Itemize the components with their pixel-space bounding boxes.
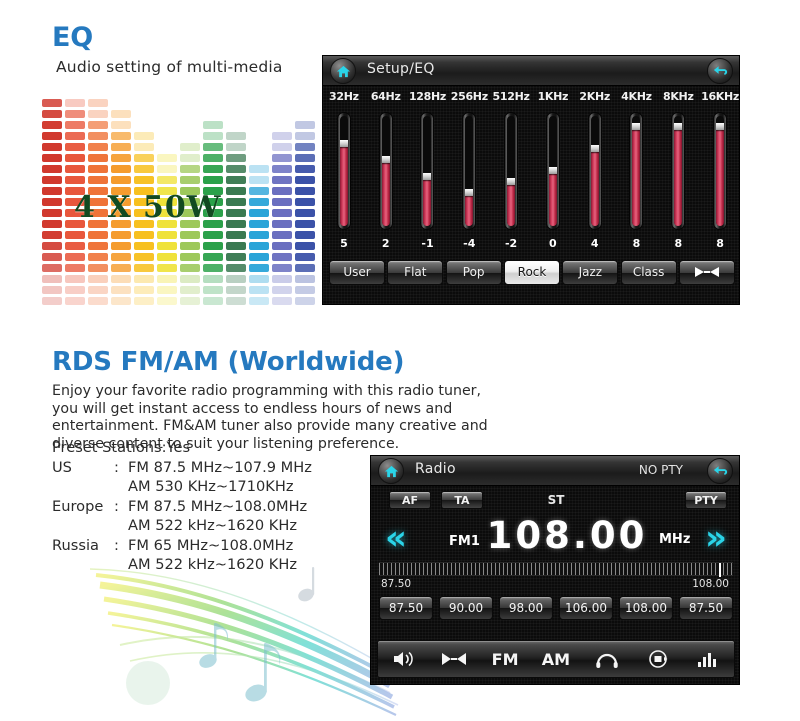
rds-control-row: AF TA ST PTY bbox=[371, 487, 740, 513]
eq-band-label: 2KHz bbox=[574, 87, 616, 107]
eq-art-block bbox=[180, 286, 200, 294]
music-swirl-decoration bbox=[60, 565, 410, 721]
stereo-mono-icon[interactable] bbox=[432, 645, 476, 673]
eq-art-block bbox=[42, 275, 62, 283]
eq-art-block bbox=[180, 143, 200, 151]
eq-art-block bbox=[65, 121, 85, 129]
eq-art-block bbox=[88, 99, 108, 107]
spec-row-fm: US:FM 87.5 MHz~107.9 MHz bbox=[52, 458, 312, 478]
preset-buttons-row[interactable]: 87.5090.0098.00106.00108.0087.50 bbox=[371, 596, 740, 624]
eq-art-block bbox=[134, 143, 154, 151]
eq-art-block bbox=[203, 143, 223, 151]
eq-art-block bbox=[295, 165, 315, 173]
eq-slider-fill bbox=[465, 193, 473, 226]
eq-slider[interactable] bbox=[657, 108, 699, 233]
eq-art-block bbox=[295, 220, 315, 228]
eq-section-subtitle: Audio setting of multi-media bbox=[56, 58, 283, 76]
eq-slider-track[interactable] bbox=[713, 112, 727, 230]
eq-art-block bbox=[111, 121, 131, 129]
rewind-icon[interactable]: « bbox=[385, 520, 407, 556]
eq-art-column bbox=[42, 96, 62, 308]
spec-row-fm: Europe:FM 87.5 MHz~108.0MHz bbox=[52, 497, 312, 517]
eq-art-block bbox=[134, 132, 154, 140]
eq-band-label: 32Hz bbox=[323, 87, 365, 107]
eq-art-block bbox=[226, 231, 246, 239]
eq-art-block bbox=[42, 231, 62, 239]
eq-preset-jazz-button[interactable]: Jazz bbox=[562, 260, 618, 285]
eq-art-block bbox=[226, 132, 246, 140]
eq-art-block bbox=[226, 253, 246, 261]
eq-art-block bbox=[88, 275, 108, 283]
radio-device-panel: Radio NO PTY AF TA ST PTY « FM1 108.00 M… bbox=[370, 455, 740, 685]
eq-art-block bbox=[134, 154, 154, 162]
eq-slider-inner bbox=[674, 116, 682, 226]
eq-art-block bbox=[42, 187, 62, 195]
eq-art-block bbox=[157, 286, 177, 294]
eq-art-block bbox=[295, 176, 315, 184]
eq-slider-fill bbox=[340, 144, 348, 227]
eq-art-column bbox=[272, 132, 292, 308]
radio-preset-6[interactable]: 87.50 bbox=[679, 596, 733, 620]
eq-slider[interactable] bbox=[365, 108, 407, 233]
eq-art-block bbox=[111, 165, 131, 173]
eq-art-block bbox=[295, 209, 315, 217]
eq-art-block bbox=[203, 242, 223, 250]
eq-slider-knob[interactable] bbox=[716, 123, 724, 130]
eq-preset-buttons[interactable]: UserFlatPopRockJazzClass bbox=[323, 256, 740, 288]
eq-slider-fill bbox=[549, 171, 557, 226]
home-icon[interactable] bbox=[330, 58, 356, 84]
eq-slider-fill bbox=[632, 127, 640, 226]
eq-art-block bbox=[65, 297, 85, 305]
am-button[interactable]: AM bbox=[534, 645, 578, 673]
eq-art-block bbox=[272, 209, 292, 217]
eq-art-block bbox=[42, 242, 62, 250]
eq-art-block bbox=[226, 209, 246, 217]
eq-value-label: 0 bbox=[532, 236, 574, 252]
eq-art-block bbox=[88, 143, 108, 151]
eq-art-block bbox=[249, 231, 269, 239]
eq-slider-knob[interactable] bbox=[674, 123, 682, 130]
band-label: FM1 bbox=[449, 534, 480, 549]
preset-stations-line: Preset Stations:Yes bbox=[52, 438, 312, 458]
eq-art-block bbox=[157, 297, 177, 305]
eq-band-label: 512Hz bbox=[490, 87, 532, 107]
eq-art-block bbox=[203, 286, 223, 294]
eq-art-column bbox=[249, 165, 269, 308]
eq-band-label: 4KHz bbox=[616, 87, 658, 107]
eq-art-block bbox=[42, 99, 62, 107]
eq-art-block bbox=[272, 286, 292, 294]
eq-slider-knob[interactable] bbox=[382, 156, 390, 163]
eq-art-block bbox=[272, 198, 292, 206]
eq-titlebar: Setup/EQ bbox=[323, 56, 739, 86]
headphone-icon[interactable] bbox=[585, 645, 629, 673]
eq-slider-fill bbox=[382, 160, 390, 226]
eq-art-block bbox=[249, 253, 269, 261]
eq-art-block bbox=[134, 297, 154, 305]
eq-art-block bbox=[249, 275, 269, 283]
spec-fm-range: FM 87.5 MHz~107.9 MHz bbox=[128, 459, 312, 476]
eq-art-block bbox=[203, 165, 223, 173]
eq-art-block bbox=[203, 297, 223, 305]
eq-art-block bbox=[157, 253, 177, 261]
eq-art-block bbox=[180, 264, 200, 272]
tuner-scale[interactable] bbox=[379, 562, 733, 576]
eq-art-block bbox=[272, 143, 292, 151]
eq-art-block bbox=[272, 187, 292, 195]
eq-slider-track[interactable] bbox=[420, 112, 434, 230]
eq-preset-pop-button[interactable]: Pop bbox=[446, 260, 502, 285]
radio-preset-2[interactable]: 90.00 bbox=[439, 596, 493, 620]
pty-button[interactable]: PTY bbox=[685, 491, 727, 509]
eq-art-block bbox=[249, 209, 269, 217]
eq-slider-track[interactable] bbox=[546, 112, 560, 230]
eq-slider-track[interactable] bbox=[379, 112, 393, 230]
eq-art-block bbox=[249, 286, 269, 294]
eq-section-title: EQ bbox=[52, 22, 93, 53]
scale-min-label: 87.50 bbox=[381, 578, 411, 590]
eq-art-block bbox=[42, 121, 62, 129]
radio-title-text: Radio bbox=[415, 461, 456, 477]
page-root: EQ Audio setting of multi-media 4 X 50W … bbox=[0, 0, 800, 721]
eq-art-block bbox=[134, 264, 154, 272]
power-rating-text: 4 X 50W bbox=[74, 190, 221, 225]
eq-slider-knob[interactable] bbox=[465, 189, 473, 196]
eq-art-block bbox=[272, 176, 292, 184]
eq-slider[interactable] bbox=[490, 108, 532, 233]
eq-art-block bbox=[203, 154, 223, 162]
eq-art-column bbox=[295, 121, 315, 308]
eq-art-block bbox=[134, 253, 154, 261]
eq-art-block bbox=[111, 231, 131, 239]
eq-art-block bbox=[226, 220, 246, 228]
eq-slider[interactable] bbox=[407, 108, 449, 233]
spec-fm-range: FM 87.5 MHz~108.0MHz bbox=[128, 498, 307, 515]
eq-slider-fill bbox=[423, 177, 431, 227]
eq-band-label: 8KHz bbox=[657, 87, 699, 107]
eq-art-block bbox=[226, 264, 246, 272]
eq-art-block bbox=[272, 154, 292, 162]
eq-slider[interactable] bbox=[616, 108, 658, 233]
eq-art-block bbox=[42, 264, 62, 272]
spec-am-range: AM 522 kHz~1620 KHz bbox=[128, 517, 297, 534]
eq-art-block bbox=[249, 220, 269, 228]
eq-art-block bbox=[42, 165, 62, 173]
eq-art-column bbox=[157, 154, 177, 308]
eq-art-block bbox=[226, 154, 246, 162]
eq-art-block bbox=[180, 275, 200, 283]
eq-art-block bbox=[88, 132, 108, 140]
eq-band-label: 128Hz bbox=[407, 87, 449, 107]
eq-art-block bbox=[42, 297, 62, 305]
spec-colon: : bbox=[114, 536, 128, 556]
eq-slider-group[interactable] bbox=[323, 108, 740, 233]
eq-art-block bbox=[249, 176, 269, 184]
eq-art-block bbox=[42, 209, 62, 217]
eq-slider-inner bbox=[423, 116, 431, 226]
eq-art-block bbox=[65, 154, 85, 162]
eq-art-block bbox=[111, 286, 131, 294]
eq-art-block bbox=[88, 154, 108, 162]
eq-art-block bbox=[226, 176, 246, 184]
eq-slider[interactable] bbox=[448, 108, 490, 233]
eq-slider-track[interactable] bbox=[588, 112, 602, 230]
pty-status: NO PTY bbox=[639, 463, 683, 477]
back-arrow-icon[interactable] bbox=[707, 58, 733, 84]
eq-slider[interactable] bbox=[699, 108, 740, 233]
eq-slider-fill bbox=[507, 182, 515, 226]
eq-art-block bbox=[134, 165, 154, 173]
eq-art-block bbox=[249, 242, 269, 250]
eq-slider-knob[interactable] bbox=[507, 178, 515, 185]
eq-slider-inner bbox=[382, 116, 390, 226]
eq-preset-class-button[interactable]: Class bbox=[621, 260, 677, 285]
frequency-unit: MHz bbox=[659, 532, 690, 547]
eq-title-text: Setup/EQ bbox=[367, 61, 435, 77]
spec-row-fm: Russia:FM 65 MHz~108.0MHz bbox=[52, 536, 312, 556]
eq-value-label: -1 bbox=[407, 236, 449, 252]
eq-art-block bbox=[272, 275, 292, 283]
eq-art-block bbox=[42, 132, 62, 140]
eq-art-block bbox=[88, 165, 108, 173]
eq-art-block bbox=[134, 275, 154, 283]
eq-slider-knob[interactable] bbox=[549, 167, 557, 174]
eq-slider-track[interactable] bbox=[337, 112, 351, 230]
frequency-display: « FM1 108.00 MHz » bbox=[371, 514, 740, 562]
eq-value-label: -2 bbox=[490, 236, 532, 252]
eq-slider-knob[interactable] bbox=[632, 123, 640, 130]
eq-art-block bbox=[226, 297, 246, 305]
eq-slider[interactable] bbox=[323, 108, 365, 233]
eq-art-block bbox=[42, 154, 62, 162]
eq-art-block bbox=[180, 165, 200, 173]
eq-art-block bbox=[272, 242, 292, 250]
eq-art-block bbox=[134, 231, 154, 239]
eq-art-block bbox=[88, 242, 108, 250]
eq-art-block bbox=[42, 143, 62, 151]
eq-art-column bbox=[180, 143, 200, 308]
fast-forward-icon[interactable]: » bbox=[705, 520, 727, 556]
eq-art-block bbox=[249, 297, 269, 305]
eq-slider-inner bbox=[465, 116, 473, 226]
eq-art-block bbox=[272, 165, 292, 173]
eq-art-block bbox=[134, 176, 154, 184]
eq-art-block bbox=[249, 264, 269, 272]
eq-value-label: 8 bbox=[699, 236, 740, 252]
eq-slider[interactable] bbox=[574, 108, 616, 233]
eq-art-block bbox=[249, 165, 269, 173]
eq-art-block bbox=[88, 253, 108, 261]
eq-art-block bbox=[295, 275, 315, 283]
eq-art-block bbox=[226, 275, 246, 283]
eq-band-label: 256Hz bbox=[448, 87, 490, 107]
eq-art-block bbox=[295, 154, 315, 162]
scan-icon[interactable] bbox=[636, 645, 680, 673]
eq-art-block bbox=[295, 286, 315, 294]
eq-art-block bbox=[88, 110, 108, 118]
spec-region-label: Europe bbox=[52, 497, 114, 517]
eq-slider-track[interactable] bbox=[629, 112, 643, 230]
eq-art-block bbox=[295, 231, 315, 239]
eq-preset-user-button[interactable]: User bbox=[329, 260, 385, 285]
eq-band-label: 1KHz bbox=[532, 87, 574, 107]
eq-band-labels: 32Hz64Hz128Hz256Hz512Hz1KHz2KHz4KHz8KHz1… bbox=[323, 87, 740, 107]
eq-art-block bbox=[157, 154, 177, 162]
eq-slider-inner bbox=[507, 116, 515, 226]
rds-section-title: RDS FM/AM (Worldwide) bbox=[52, 347, 404, 377]
eq-art-block bbox=[295, 121, 315, 129]
eq-art-block bbox=[157, 242, 177, 250]
rds-spec-list: Preset Stations:YesUS:FM 87.5 MHz~107.9 … bbox=[52, 438, 312, 575]
frequency-value: 108.00 bbox=[479, 514, 655, 557]
eq-art-block bbox=[157, 231, 177, 239]
eq-art-block bbox=[249, 187, 269, 195]
back-arrow-icon[interactable] bbox=[707, 458, 733, 484]
eq-slider-inner bbox=[340, 116, 348, 226]
eq-slider-inner bbox=[632, 116, 640, 226]
equalizer-icon[interactable] bbox=[686, 645, 730, 673]
eq-art-block bbox=[42, 253, 62, 261]
eq-slider-knob[interactable] bbox=[423, 173, 431, 180]
eq-art-block bbox=[111, 242, 131, 250]
spec-row-am: AM 530 KHz~1710KHz bbox=[52, 477, 312, 497]
eq-art-block bbox=[295, 143, 315, 151]
tuner-marker bbox=[719, 563, 721, 577]
eq-art-block bbox=[65, 165, 85, 173]
eq-art-block bbox=[65, 264, 85, 272]
eq-art-block bbox=[272, 264, 292, 272]
eq-art-block bbox=[180, 154, 200, 162]
eq-slider-track[interactable] bbox=[671, 112, 685, 230]
eq-art-block bbox=[295, 132, 315, 140]
eq-value-label: -4 bbox=[448, 236, 490, 252]
eq-art-block bbox=[226, 198, 246, 206]
eq-art-block bbox=[272, 132, 292, 140]
eq-art-block bbox=[111, 176, 131, 184]
loudness-icon[interactable] bbox=[679, 260, 735, 285]
eq-art-block bbox=[295, 264, 315, 272]
eq-art-block bbox=[65, 253, 85, 261]
eq-art-block bbox=[42, 176, 62, 184]
eq-band-label: 64Hz bbox=[365, 87, 407, 107]
volume-icon[interactable] bbox=[381, 645, 425, 673]
eq-art-block bbox=[88, 231, 108, 239]
eq-art-block bbox=[65, 231, 85, 239]
eq-art-block bbox=[65, 275, 85, 283]
eq-slider-knob[interactable] bbox=[591, 145, 599, 152]
eq-art-block bbox=[111, 253, 131, 261]
eq-art-block bbox=[65, 176, 85, 184]
eq-slider-fill bbox=[591, 149, 599, 226]
spec-fm-range: FM 65 MHz~108.0MHz bbox=[128, 537, 293, 554]
eq-art-block bbox=[226, 165, 246, 173]
eq-art-block bbox=[111, 110, 131, 118]
eq-art-block bbox=[111, 275, 131, 283]
fm-button[interactable]: FM bbox=[483, 645, 527, 673]
eq-art-block bbox=[65, 143, 85, 151]
radio-preset-3[interactable]: 98.00 bbox=[499, 596, 553, 620]
eq-art-block bbox=[203, 275, 223, 283]
radio-toolbar[interactable]: FMAM bbox=[377, 640, 735, 678]
eq-art-block bbox=[203, 264, 223, 272]
eq-art-block bbox=[203, 132, 223, 140]
radio-preset-1[interactable]: 87.50 bbox=[379, 596, 433, 620]
eq-art-block bbox=[157, 176, 177, 184]
eq-art-block bbox=[180, 253, 200, 261]
eq-art-block bbox=[42, 198, 62, 206]
eq-art-block bbox=[88, 121, 108, 129]
eq-art-block bbox=[226, 187, 246, 195]
eq-art-block bbox=[295, 253, 315, 261]
eq-art-block bbox=[88, 176, 108, 184]
eq-art-block bbox=[134, 286, 154, 294]
eq-art-block bbox=[88, 297, 108, 305]
eq-art-block bbox=[157, 165, 177, 173]
radio-titlebar: Radio NO PTY bbox=[371, 456, 739, 486]
eq-slider-fill bbox=[674, 127, 682, 226]
eq-slider-inner bbox=[591, 116, 599, 226]
spec-colon: : bbox=[114, 497, 128, 517]
radio-preset-4[interactable]: 106.00 bbox=[559, 596, 613, 620]
spec-region-label: US bbox=[52, 458, 114, 478]
eq-art-block bbox=[226, 242, 246, 250]
eq-art-block bbox=[295, 242, 315, 250]
eq-art-block bbox=[42, 110, 62, 118]
eq-value-label: 8 bbox=[616, 236, 658, 252]
eq-art-block bbox=[295, 187, 315, 195]
eq-preset-flat-button[interactable]: Flat bbox=[387, 260, 443, 285]
eq-art-block bbox=[42, 286, 62, 294]
eq-art-column bbox=[226, 132, 246, 308]
eq-art-block bbox=[65, 132, 85, 140]
eq-art-block bbox=[111, 143, 131, 151]
eq-art-block bbox=[272, 297, 292, 305]
eq-art-block bbox=[157, 264, 177, 272]
eq-slider-inner bbox=[549, 116, 557, 226]
eq-value-label: 4 bbox=[574, 236, 616, 252]
eq-art-block bbox=[111, 297, 131, 305]
eq-art-block bbox=[111, 264, 131, 272]
eq-slider-knob[interactable] bbox=[340, 140, 348, 147]
scale-max-label: 108.00 bbox=[692, 578, 729, 590]
eq-art-block bbox=[249, 198, 269, 206]
eq-art-block bbox=[65, 242, 85, 250]
eq-art-block bbox=[42, 220, 62, 228]
eq-art-block bbox=[203, 121, 223, 129]
eq-art-block bbox=[88, 264, 108, 272]
radio-preset-5[interactable]: 108.00 bbox=[619, 596, 673, 620]
eq-art-block bbox=[295, 198, 315, 206]
eq-art-block bbox=[111, 132, 131, 140]
eq-preset-rock-button[interactable]: Rock bbox=[504, 260, 560, 285]
eq-slider-track[interactable] bbox=[462, 112, 476, 230]
eq-art-block bbox=[272, 220, 292, 228]
spec-row-am: AM 522 kHz~1620 KHz bbox=[52, 516, 312, 536]
spec-region-label: Russia bbox=[52, 536, 114, 556]
eq-slider-track[interactable] bbox=[504, 112, 518, 230]
eq-art-block bbox=[203, 231, 223, 239]
eq-value-label: 8 bbox=[657, 236, 699, 252]
eq-art-block bbox=[272, 231, 292, 239]
eq-art-block bbox=[111, 154, 131, 162]
eq-band-label: 16KHz bbox=[699, 87, 740, 107]
eq-slider[interactable] bbox=[532, 108, 574, 233]
eq-art-block bbox=[65, 286, 85, 294]
home-icon[interactable] bbox=[378, 458, 404, 484]
eq-art-block bbox=[180, 176, 200, 184]
eq-value-label: 2 bbox=[365, 236, 407, 252]
